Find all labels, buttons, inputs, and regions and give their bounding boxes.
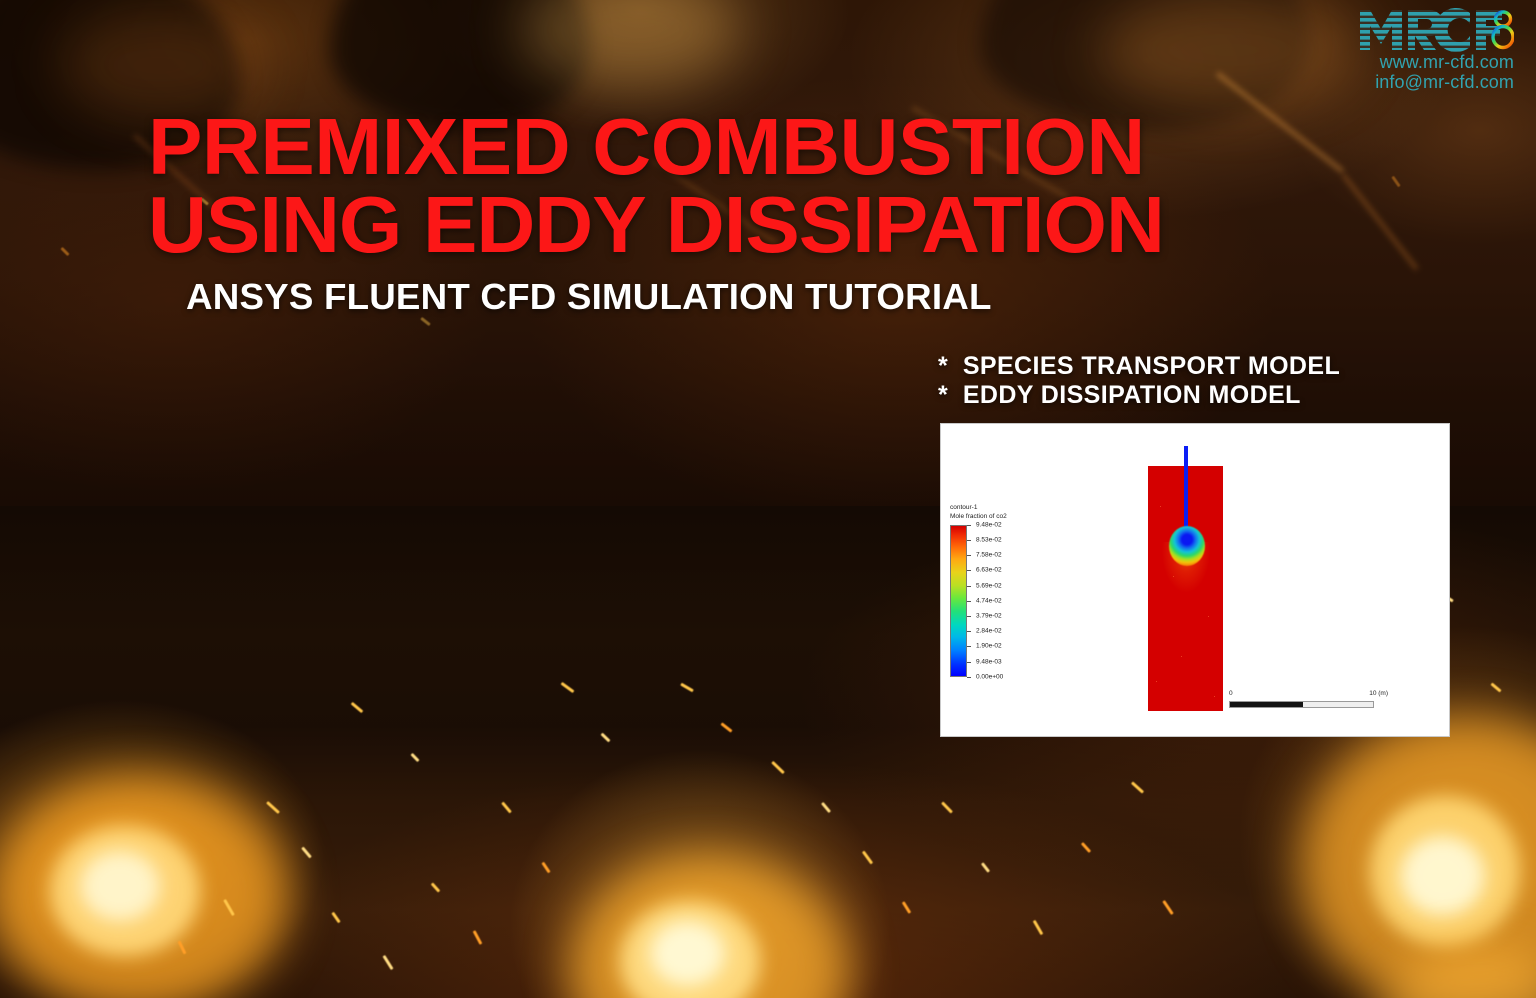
logo-website[interactable]: www.mr-cfd.com — [1358, 52, 1514, 72]
legend-tick: 9.48e-02 — [976, 521, 1002, 528]
legend-title-line-1: contour-1 — [950, 503, 1063, 512]
title-line-2: USING EDDY DISSIPATION — [148, 186, 1229, 264]
scale-bar-fill — [1230, 702, 1303, 707]
scale-bar: 0 10 (m) — [1229, 690, 1374, 708]
poster-canvas: PREMIXED COMBUSTION USING EDDY DISSIPATI… — [0, 0, 1536, 998]
legend-tick: 7.58e-02 — [976, 552, 1002, 559]
legend-tick: 1.90e-02 — [976, 643, 1002, 650]
scale-max-label: 10 (m) — [1369, 690, 1388, 697]
legend-tick: 6.63e-02 — [976, 567, 1002, 574]
legend-tick: 4.74e-02 — [976, 597, 1002, 604]
legend-tick: 5.69e-02 — [976, 582, 1002, 589]
colorbar — [950, 525, 967, 677]
legend-tick: 9.48e-03 — [976, 658, 1002, 665]
legend-title-line-2: Mole fraction of co2 — [950, 512, 1063, 521]
page-subtitle: ANSYS FLUENT CFD SIMULATION TUTORIAL — [186, 276, 992, 318]
colorbar-ticks: 9.48e-02 8.53e-02 7.58e-02 6.63e-02 5.69… — [967, 525, 1063, 677]
legend-tick: 8.53e-02 — [976, 537, 1002, 544]
page-title: PREMIXED COMBUSTION USING EDDY DISSIPATI… — [148, 108, 1229, 265]
logo-mark — [1358, 6, 1514, 52]
title-line-1: PREMIXED COMBUSTION — [148, 102, 1145, 191]
scale-min-label: 0 — [1229, 690, 1233, 697]
brand-logo[interactable]: www.mr-cfd.com info@mr-cfd.com — [1358, 6, 1514, 92]
scale-bar-track — [1229, 701, 1374, 708]
legend-tick: 2.84e-02 — [976, 628, 1002, 635]
legend-tick: 3.79e-02 — [976, 613, 1002, 620]
contour-legend: contour-1 Mole fraction of co2 9.48e-02 … — [950, 503, 1063, 677]
cfd-contour-panel: contour-1 Mole fraction of co2 9.48e-02 … — [940, 423, 1450, 737]
feature-list: * SPECIES TRANSPORT MODEL * EDDY DISSIPA… — [938, 352, 1340, 411]
list-item: * SPECIES TRANSPORT MODEL — [938, 352, 1340, 381]
legend-tick: 0.00e+00 — [976, 673, 1003, 680]
logo-email[interactable]: info@mr-cfd.com — [1358, 72, 1514, 92]
logo-contact: www.mr-cfd.com info@mr-cfd.com — [1358, 52, 1514, 92]
flame-front-bulb — [1169, 526, 1205, 566]
list-item: * EDDY DISSIPATION MODEL — [938, 381, 1340, 410]
mr-cf-logo-icon — [1358, 6, 1514, 52]
